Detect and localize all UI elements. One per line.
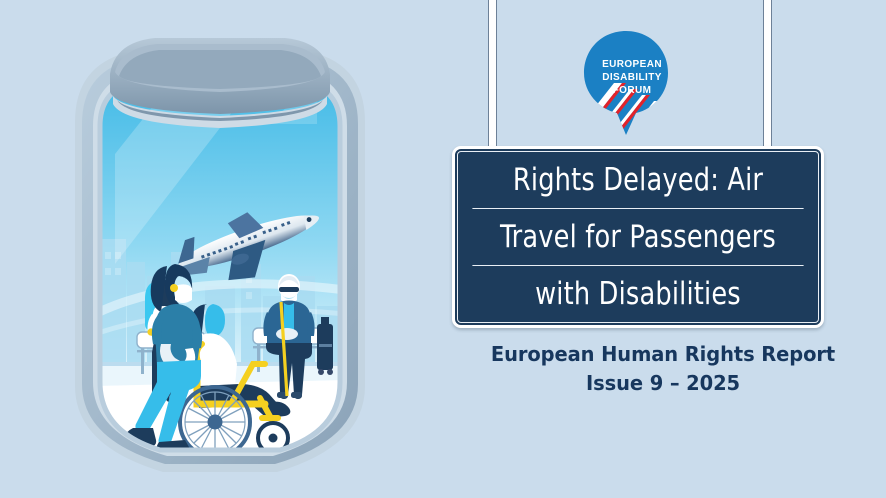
cover-page: EUROPEAN DISABILITY FORUM Rights Delayed… [0,0,886,498]
airplane-window-illustration [55,14,385,484]
logo-line-3: FORUM [613,85,652,96]
logo-line-1: EUROPEAN [602,59,662,70]
sign-post-left [488,0,497,152]
attendant-earring [170,284,178,292]
report-subtitle: European Human Rights Report Issue 9 – 2… [440,340,886,398]
man-sunglasses [279,287,299,292]
window-glass-scene [95,74,345,459]
european-disability-forum-logo: EUROPEAN DISABILITY FORUM [580,27,672,139]
sign-title-line-1: Rights Delayed: Air [472,152,803,208]
subtitle-line-1: European Human Rights Report [451,340,875,369]
man-hands [276,328,298,340]
sign-post-right [763,0,772,152]
cover-right-column: EUROPEAN DISABILITY FORUM Rights Delayed… [440,0,886,498]
subtitle-line-2: Issue 9 – 2025 [451,369,875,398]
title-sign: Rights Delayed: Air Travel for Passenger… [452,146,824,328]
sign-panel: Rights Delayed: Air Travel for Passenger… [457,151,819,323]
sign-title-line-2: Travel for Passengers [472,208,803,265]
sign-title-line-3: with Disabilities [472,265,803,322]
logo-line-2: DISABILITY [602,72,662,83]
